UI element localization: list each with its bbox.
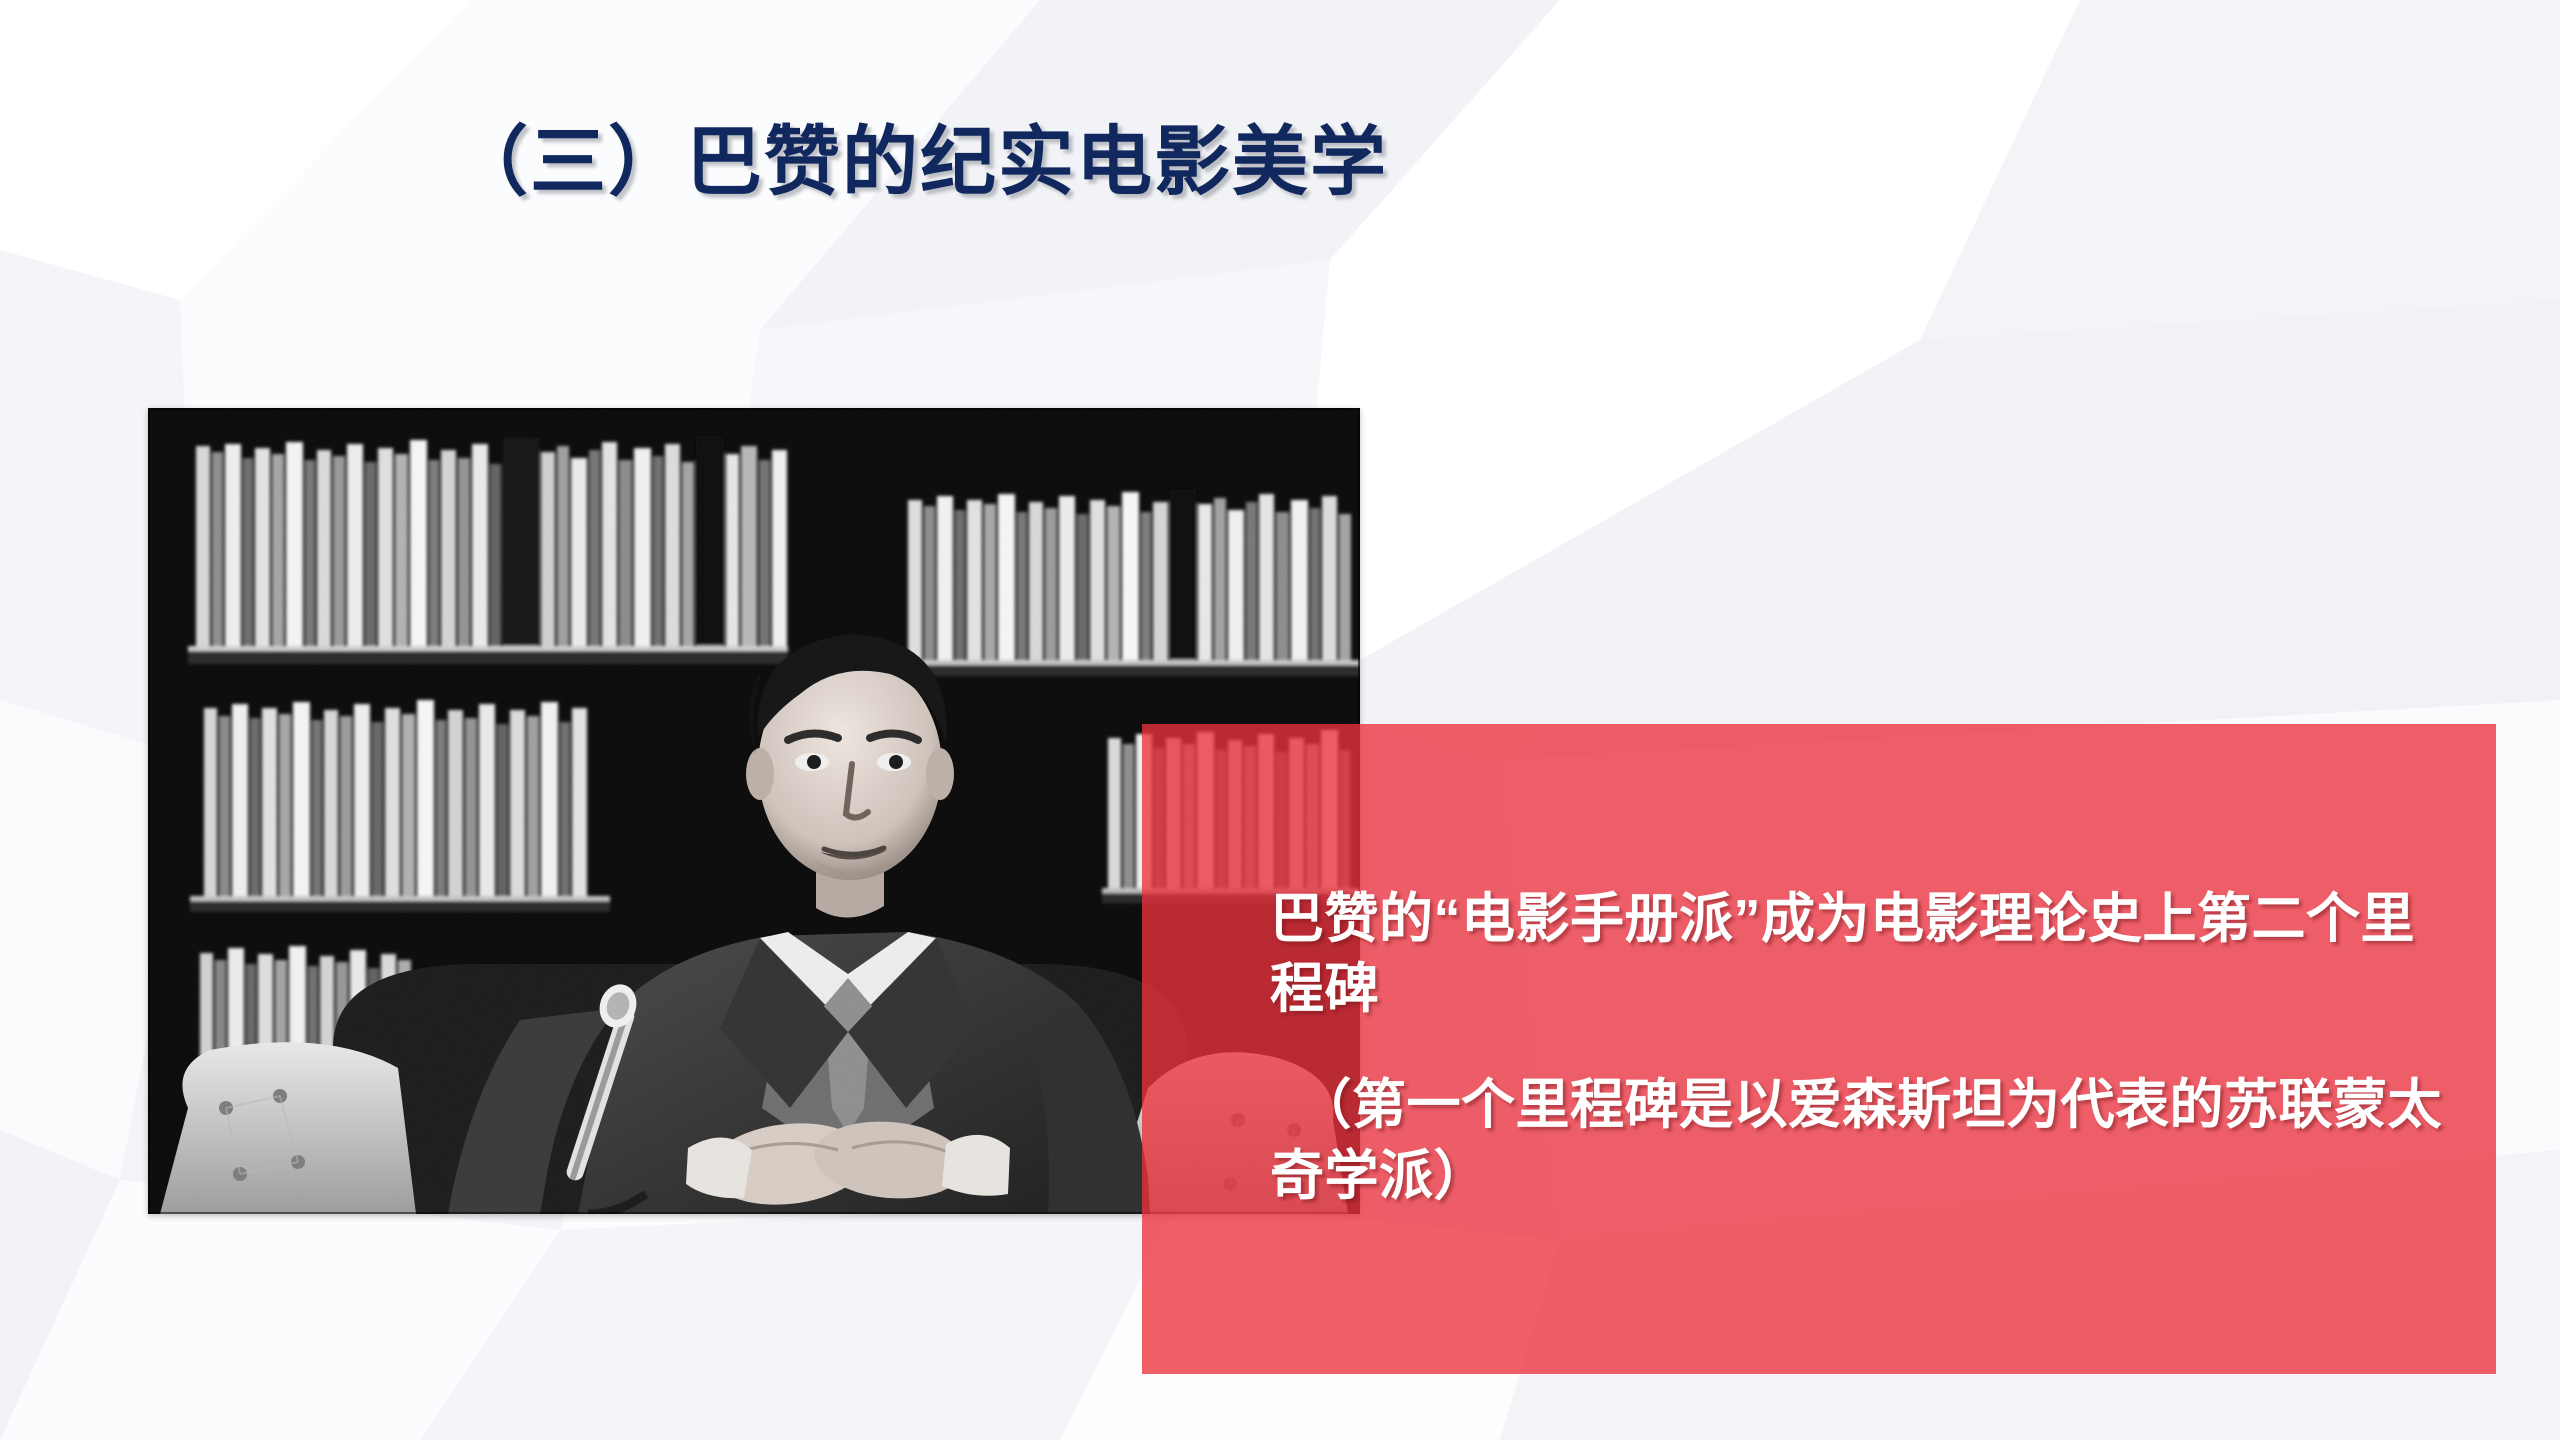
callout-paragraph-1: 巴赞的“电影手册派”成为电影理论史上第二个里程碑 <box>1270 884 2450 1024</box>
red-callout-panel: 巴赞的“电影手册派”成为电影理论史上第二个里程碑 （第一个里程碑是以爱森斯坦为代… <box>1142 724 2496 1374</box>
callout-text-block: 巴赞的“电影手册派”成为电影理论史上第二个里程碑 （第一个里程碑是以爱森斯坦为代… <box>1270 884 2450 1211</box>
callout-paragraph-2: （第一个里程碑是以爱森斯坦为代表的苏联蒙太奇学派） <box>1270 1070 2450 1210</box>
page-title: （三）巴赞的纪实电影美学 <box>452 118 1388 208</box>
presentation-slide: （三）巴赞的纪实电影美学 <box>0 0 2560 1440</box>
